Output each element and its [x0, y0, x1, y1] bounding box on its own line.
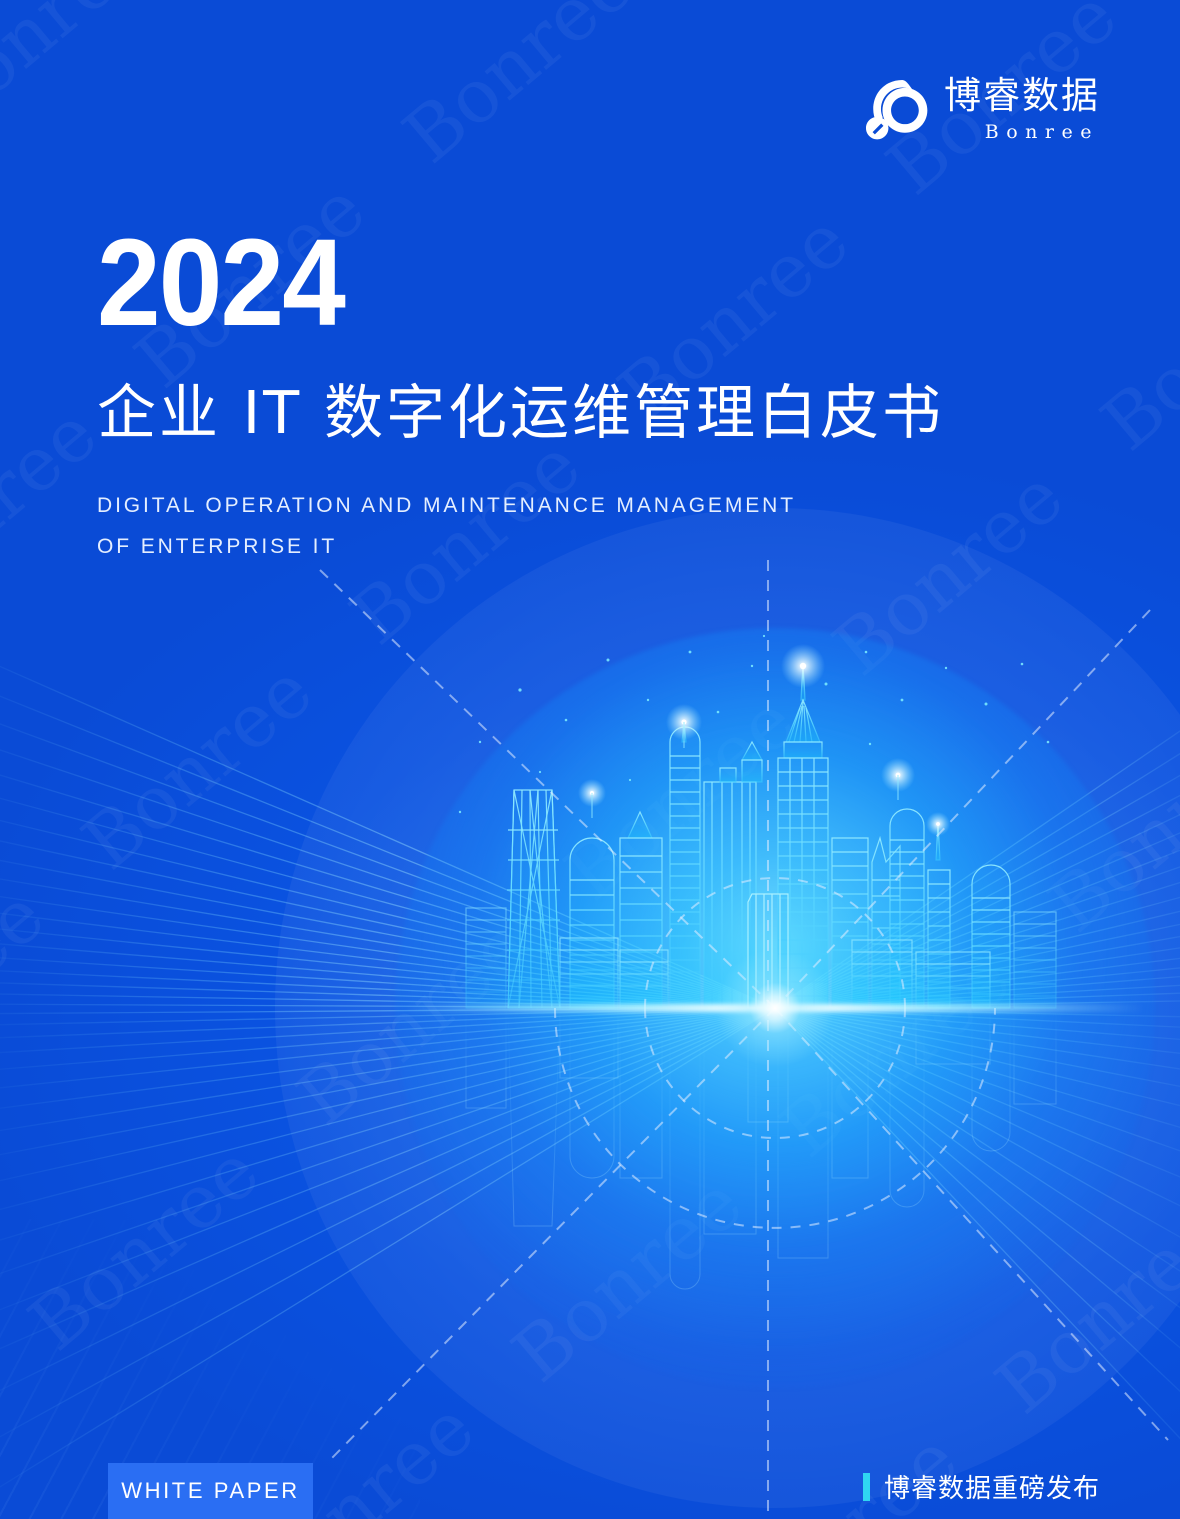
white-paper-badge-label: WHITE PAPER — [121, 1478, 300, 1504]
title-block: 2024 企业 IT 数字化运维管理白皮书 DIGITAL OPERATION … — [97, 222, 944, 568]
brand-name-en: Bonree — [944, 123, 1100, 142]
cover-year: 2024 — [97, 222, 885, 345]
accent-bar-icon — [863, 1473, 870, 1501]
white-paper-badge: WHITE PAPER — [108, 1463, 313, 1519]
subtitle: DIGITAL OPERATION AND MAINTENANCE MANAGE… — [97, 486, 944, 568]
release-note: 博睿数据重磅发布 — [863, 1468, 1100, 1505]
brand-logo: 博睿数据 Bonree — [864, 76, 1100, 142]
brand-name-cn: 博睿数据 — [944, 77, 1100, 114]
cover-footer: WHITE PAPER 博睿数据重磅发布 — [0, 1459, 1180, 1519]
page-title: 企业 IT 数字化运维管理白皮书 — [97, 380, 944, 446]
subtitle-line-1: DIGITAL OPERATION AND MAINTENANCE MANAGE… — [97, 486, 944, 527]
whitepaper-cover: Bonree Bonree Bonree Bonree Bonree Bonre… — [0, 0, 1180, 1519]
subtitle-line-2: OF ENTERPRISE IT — [97, 527, 944, 568]
bonree-logo-icon — [864, 76, 930, 142]
release-note-text: 博睿数据重磅发布 — [884, 1468, 1100, 1505]
